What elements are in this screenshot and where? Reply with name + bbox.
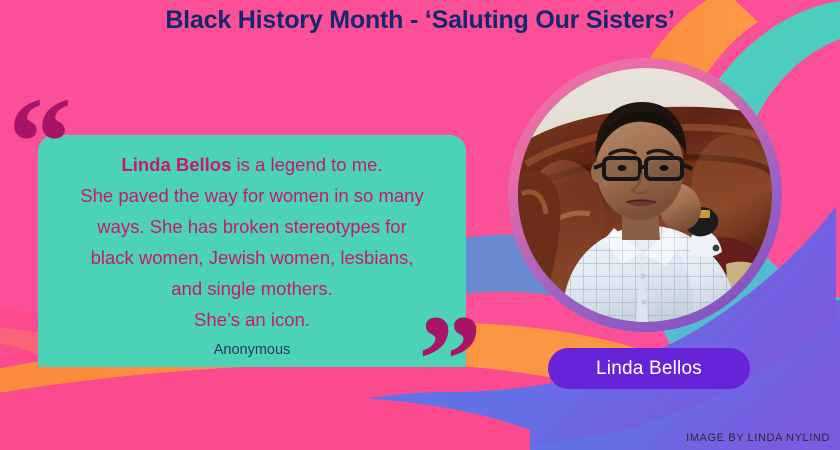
open-quote-icon: “ bbox=[8, 78, 72, 206]
quote-line-3: black women, Jewish women, lesbians, bbox=[91, 247, 414, 268]
quote-attribution: Anonymous bbox=[56, 341, 448, 359]
portrait-ring bbox=[508, 58, 782, 332]
portrait-photo bbox=[518, 68, 772, 322]
name-badge-label: Linda Bellos bbox=[596, 358, 702, 380]
quote-card: Linda Bellos is a legend to me. She pave… bbox=[38, 135, 466, 367]
quote-line-4: and single mothers. bbox=[171, 278, 332, 299]
banner-graphic: Black History Month - ‘Saluting Our Sist… bbox=[0, 0, 840, 450]
quote-line-5: She’s an icon. bbox=[194, 309, 310, 330]
image-credit: IMAGE BY LINDA NYLIND bbox=[686, 432, 830, 444]
quote-text: Linda Bellos is a legend to me. She pave… bbox=[56, 149, 448, 335]
name-badge: Linda Bellos bbox=[548, 348, 750, 389]
quote-line-2: ways. She has broken stereotypes for bbox=[97, 216, 407, 237]
page-title: Black History Month - ‘Saluting Our Sist… bbox=[0, 6, 840, 35]
portrait-illustration bbox=[518, 68, 772, 322]
quote-line-1: She paved the way for women in so many bbox=[80, 185, 423, 206]
quote-lead-name: Linda Bellos bbox=[121, 154, 231, 175]
close-quote-icon: ” bbox=[418, 296, 482, 424]
quote-line-0: is a legend to me. bbox=[231, 154, 382, 175]
